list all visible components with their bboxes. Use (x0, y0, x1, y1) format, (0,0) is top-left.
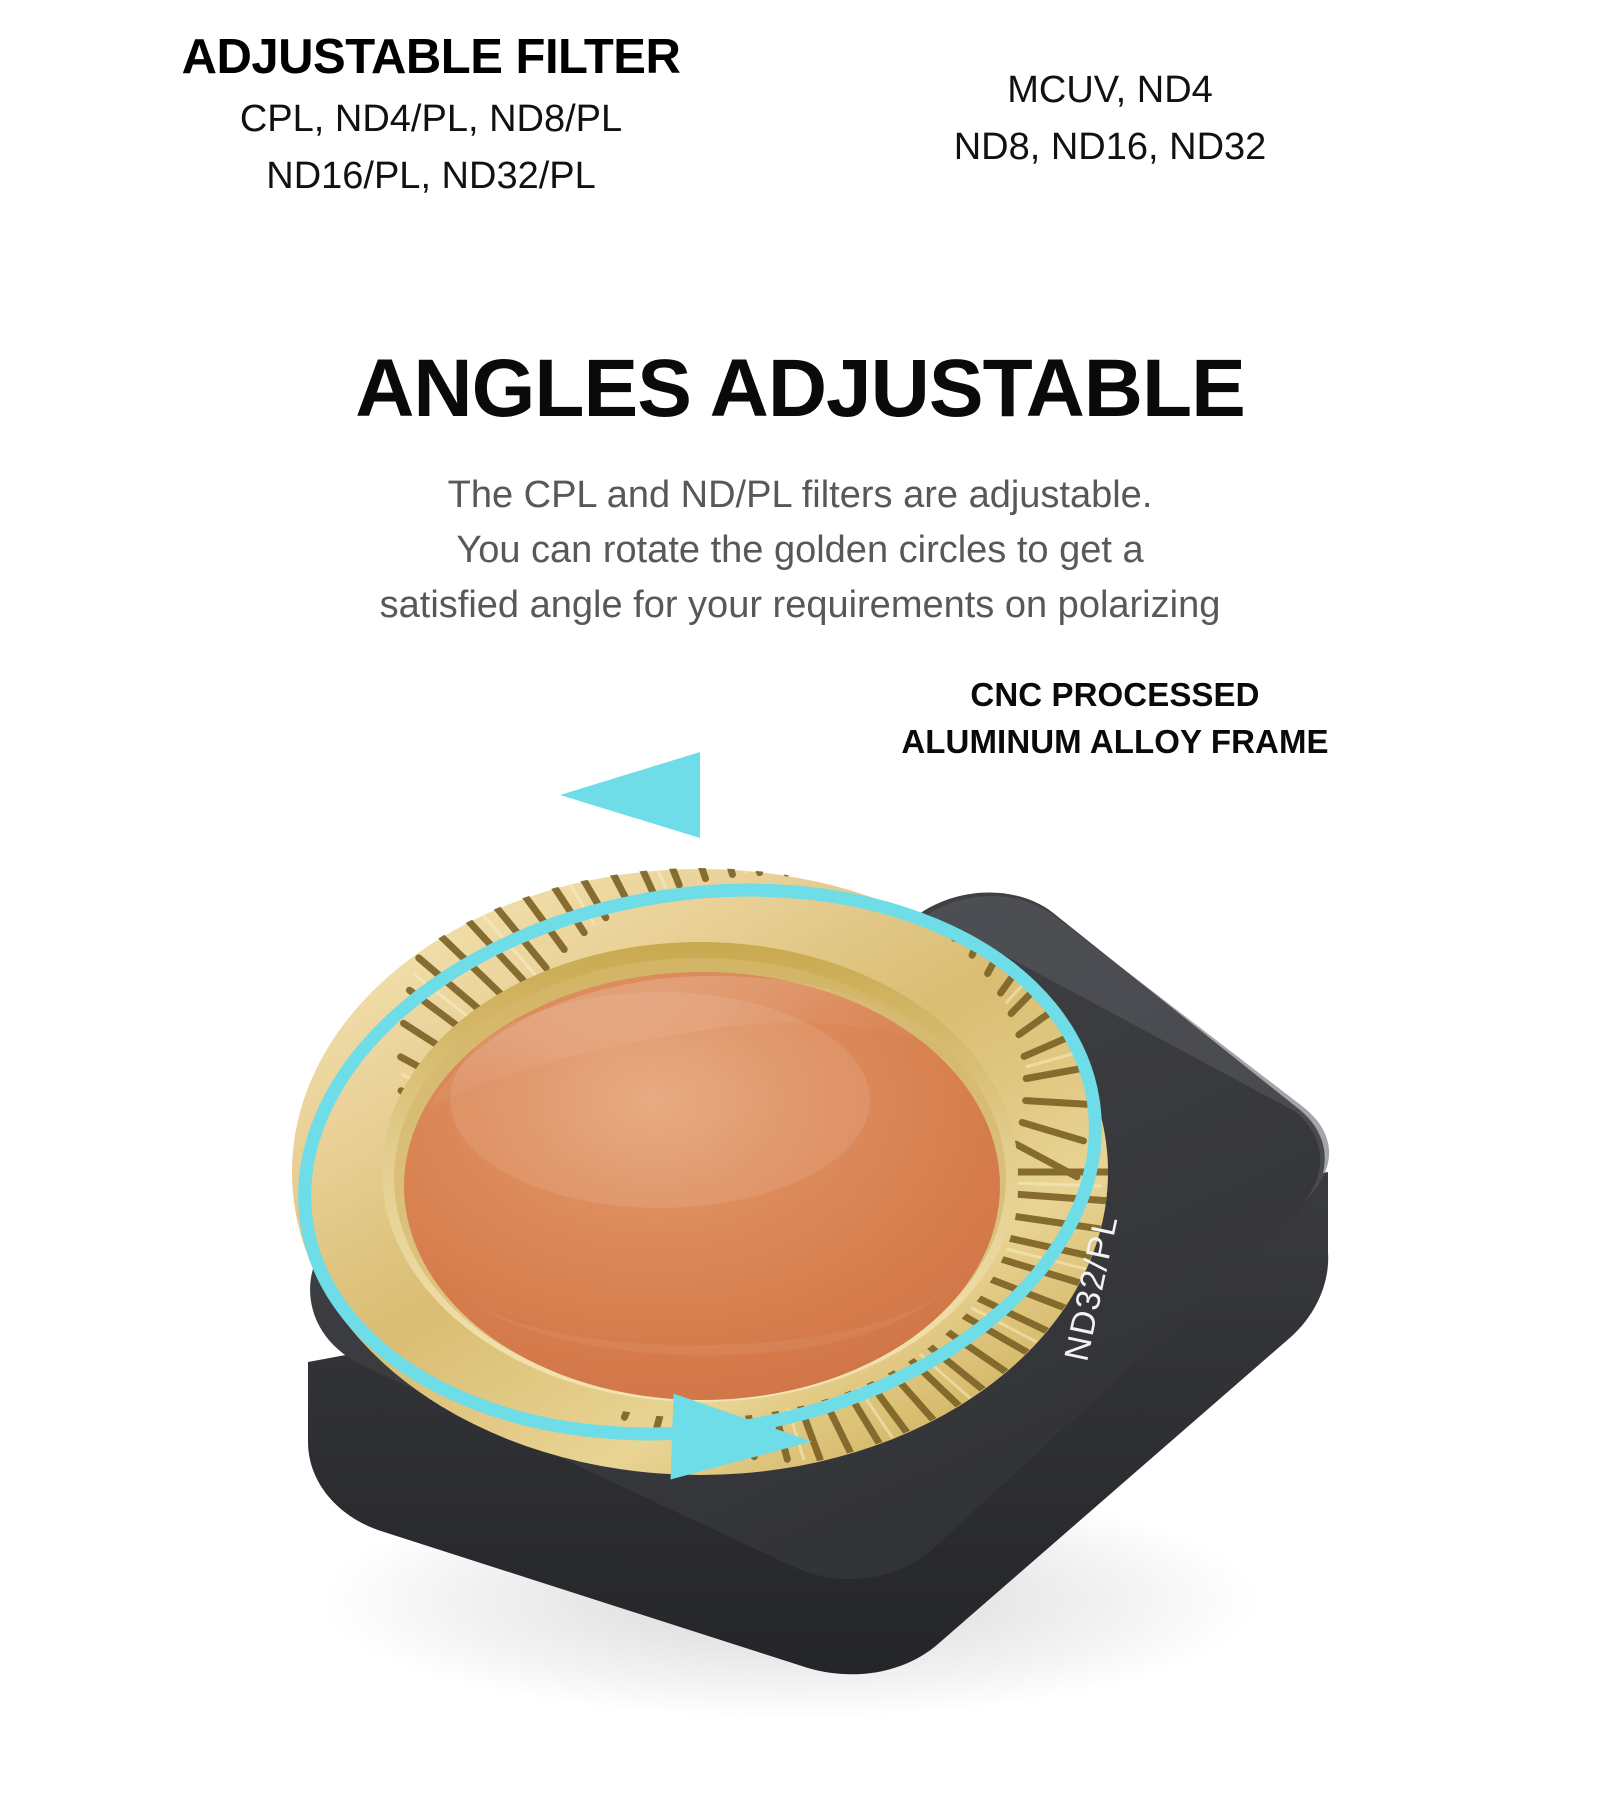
header-right-column: MCUV, ND4 ND8, ND16, ND32 (830, 62, 1390, 176)
nd-model-line-2: ND8, ND16, ND32 (830, 119, 1390, 176)
adjustable-filter-models: CPL, ND4/PL, ND8/PL ND16/PL, ND32/PL (96, 91, 766, 205)
description-line-3: satisfied angle for your requirements on… (0, 578, 1600, 633)
main-description: The CPL and ND/PL filters are adjustable… (0, 468, 1600, 633)
header-left-column: ADJUSTABLE FILTER CPL, ND4/PL, ND8/PL ND… (96, 30, 766, 205)
adjustable-filter-title: ADJUSTABLE FILTER (96, 30, 766, 85)
description-line-1: The CPL and ND/PL filters are adjustable… (0, 468, 1600, 523)
product-illustration (0, 700, 1600, 1794)
nd-model-line-1: MCUV, ND4 (830, 62, 1390, 119)
main-headline: ANGLES ADJUSTABLE (0, 348, 1600, 430)
description-line-2: You can rotate the golden circles to get… (0, 523, 1600, 578)
filter-model-line-1: CPL, ND4/PL, ND8/PL (96, 91, 766, 148)
header-band: ADJUSTABLE FILTER CPL, ND4/PL, ND8/PL ND… (0, 0, 1600, 250)
filter-model-line-2: ND16/PL, ND32/PL (96, 148, 766, 205)
